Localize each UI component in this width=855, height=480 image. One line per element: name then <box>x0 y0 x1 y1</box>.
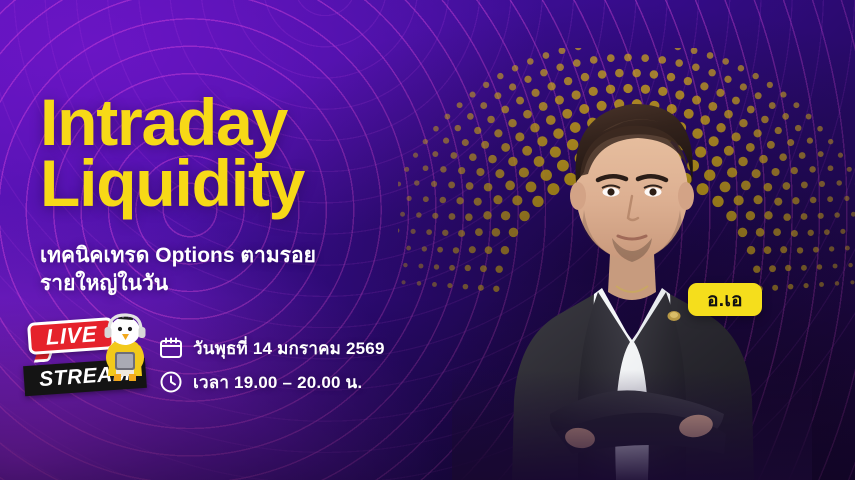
banner-title: Intraday Liquidity <box>40 92 304 215</box>
live-label: LIVE <box>45 321 97 351</box>
subtitle-line-1: เทคนิคเทรด Options ตามรอย <box>40 242 390 270</box>
banner-subtitle: เทคนิคเทรด Options ตามรอย รายใหญ่ในวัน <box>40 242 390 298</box>
title-line-2: Liquidity <box>40 153 304 214</box>
chicken-mascot-with-headphones-icon <box>96 310 154 382</box>
event-time-row: เวลา 19.00 – 20.00 น. <box>158 368 385 396</box>
subtitle-line-2: รายใหญ่ในวัน <box>40 270 390 298</box>
calendar-icon <box>158 335 184 361</box>
event-info: วันพุธที่ 14 มกราคม 2569 เวลา 19.00 – 20… <box>158 334 385 402</box>
speaker-portrait <box>452 40 812 480</box>
event-date-row: วันพุธที่ 14 มกราคม 2569 <box>158 334 385 362</box>
speaker-name-badge: อ.เอ <box>688 283 762 316</box>
live-stream-badge: LIVE STREAM <box>22 312 152 404</box>
event-time-text: เวลา 19.00 – 20.00 น. <box>193 369 362 396</box>
event-date-text: วันพุธที่ 14 มกราคม 2569 <box>193 335 385 362</box>
promotional-banner: Intraday Liquidity เทคนิคเทรด Options ตา… <box>0 0 855 480</box>
speaker-name: อ.เอ <box>707 285 743 315</box>
clock-icon <box>158 369 184 395</box>
